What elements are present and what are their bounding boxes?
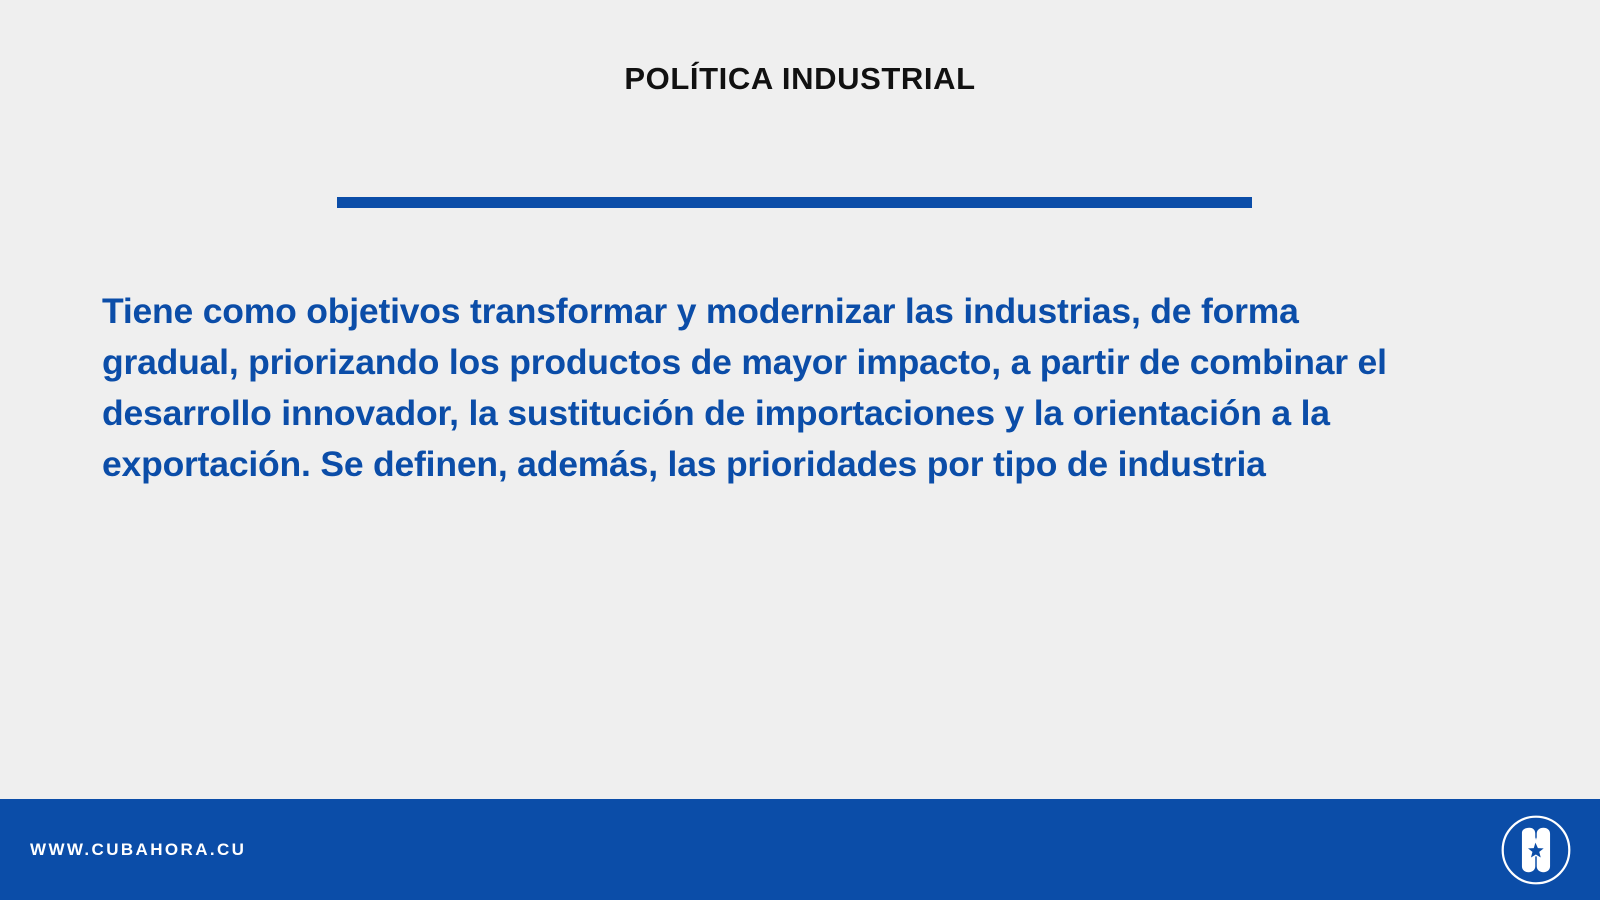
body-line: exportación. Se definen, además, las pri… [102, 439, 1522, 490]
body-line: Tiene como objetivos transformar y moder… [102, 286, 1522, 337]
slide-canvas: POLÍTICA INDUSTRIAL Tiene como objetivos… [0, 0, 1600, 900]
body-line: gradual, priorizando los productos de ma… [102, 337, 1522, 388]
page-title: POLÍTICA INDUSTRIAL [624, 60, 975, 97]
footer-website-url: WWW.CUBAHORA.CU [30, 840, 246, 860]
body-copy-block: Tiene como objetivos transformar y moder… [102, 286, 1522, 490]
title-container: POLÍTICA INDUSTRIAL [0, 60, 1600, 97]
title-divider-rule [337, 197, 1252, 208]
footer-bar: WWW.CUBAHORA.CU [0, 799, 1600, 900]
cubahora-circle-logo-icon [1499, 813, 1573, 887]
body-line: desarrollo innovador, la sustitución de … [102, 388, 1522, 439]
